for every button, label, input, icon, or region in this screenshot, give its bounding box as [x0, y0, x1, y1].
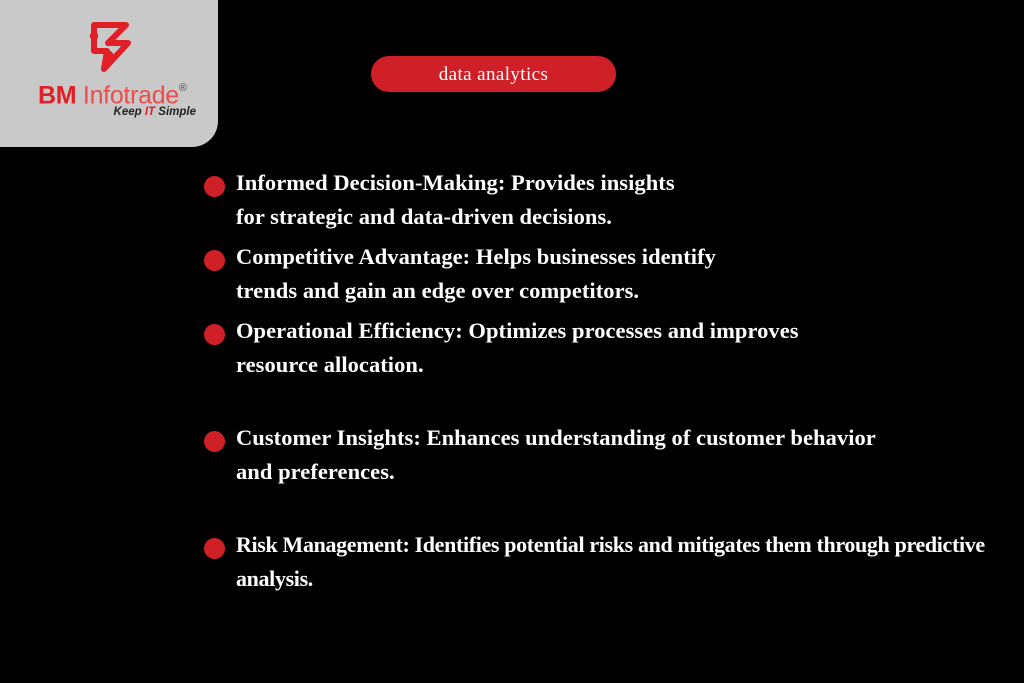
- slide-title-text: data analytics: [439, 65, 549, 84]
- list-item-text: Competitive Advantage: Helps businesses …: [236, 240, 776, 307]
- brand-tagline-prefix: Keep: [114, 106, 145, 118]
- list-item-text: Informed Decision-Making: Provides insig…: [236, 166, 706, 233]
- list-item: Customer Insights: Enhances understandin…: [204, 421, 876, 488]
- list-item: Informed Decision-Making: Provides insig…: [204, 166, 706, 233]
- list-item-text: Risk Management: Identifies potential ri…: [236, 528, 1016, 595]
- bullet-dot-icon: [204, 431, 225, 452]
- benefits-bullet-list: Informed Decision-Making: Provides insig…: [204, 166, 1016, 595]
- list-item: Operational Efficiency: Optimizes proces…: [204, 314, 876, 381]
- list-item: Competitive Advantage: Helps businesses …: [204, 240, 776, 307]
- brand-tagline-suffix: Simple: [155, 106, 196, 118]
- brand-wordmark: BM Infotrade®: [0, 78, 218, 109]
- list-item: Risk Management: Identifies potential ri…: [204, 528, 1016, 595]
- bullet-dot-icon: [204, 176, 225, 197]
- bm-infotrade-logo-mark-icon: [84, 16, 136, 74]
- bullet-dot-icon: [204, 538, 225, 559]
- registered-trademark-icon: ®: [179, 82, 187, 94]
- list-item-text: Customer Insights: Enhances understandin…: [236, 421, 876, 488]
- list-item-text: Operational Efficiency: Optimizes proces…: [236, 314, 876, 381]
- slide-title-pill: data analytics: [371, 56, 616, 92]
- brand-tagline: Keep IT Simple: [0, 106, 218, 118]
- brand-logo-card: BM Infotrade® Keep IT Simple: [0, 0, 218, 147]
- bullet-dot-icon: [204, 324, 225, 345]
- brand-tagline-accent: IT: [145, 106, 155, 118]
- bullet-dot-icon: [204, 250, 225, 271]
